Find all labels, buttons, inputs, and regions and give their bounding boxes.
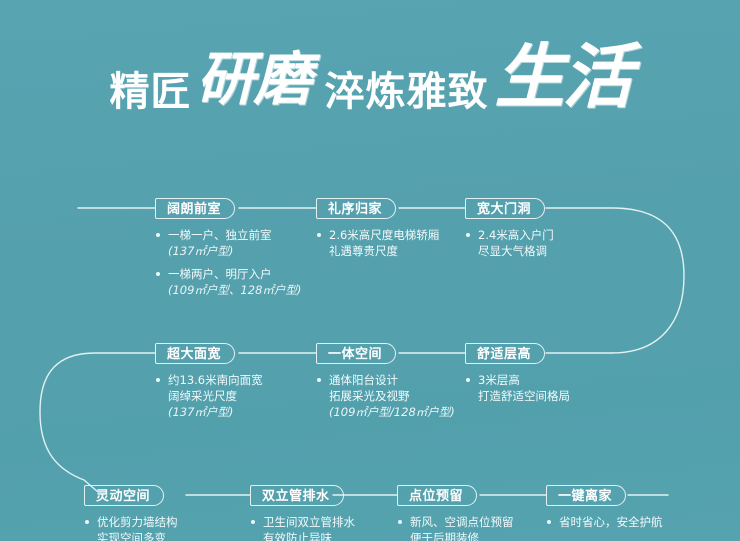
bullet-line-1: 一梯一户、独立前室 — [168, 228, 272, 242]
bullet-dot-icon — [156, 378, 160, 382]
feature-title-label: 宽大门洞 — [477, 202, 531, 217]
bullet-line-2: (137㎡户型) — [168, 243, 301, 259]
bullet-line-2: 打造舒适空间格局 — [478, 388, 570, 404]
bullet-line-1: 3米层高 — [478, 373, 520, 387]
list-item: 省时省心，安全护航 — [546, 514, 663, 530]
bullet-dot-icon — [466, 378, 470, 382]
bullet-line-2: 便于后期装修 — [410, 530, 514, 541]
feature-bullet-list: 一梯一户、独立前室 (137㎡户型) 一梯两户、明厅入户 (109㎡户型、128… — [155, 227, 301, 298]
bullet-line-2: 礼遇尊贵尺度 — [329, 243, 439, 259]
feature-title-label: 双立管排水 — [262, 489, 330, 504]
feature-kuolang-qianshi[interactable]: 阔朗前室 一梯一户、独立前室 (137㎡户型) 一梯两户、明厅入户 (109㎡户… — [155, 198, 301, 301]
feature-title-chip[interactable]: 点位预留 — [397, 485, 477, 506]
bullet-dot-icon — [251, 520, 255, 524]
list-item: 一梯一户、独立前室 (137㎡户型) — [155, 227, 301, 259]
feature-bullet-list: 优化剪力墙结构 实现空间多变 — [84, 514, 178, 541]
feature-title-chip[interactable]: 舒适层高 — [465, 343, 545, 364]
list-item: 通体阳台设计 拓展采光及视野 (109㎡户型/128㎡户型) — [316, 372, 455, 420]
feature-lingdong-kongjian[interactable]: 灵动空间 优化剪力墙结构 实现空间多变 — [84, 485, 178, 541]
title-part-2: 研磨 — [196, 50, 310, 108]
feature-dianwei-yuliu[interactable]: 点位预留 新风、空调点位预留 便于后期装修 — [397, 485, 514, 541]
feature-lixu-guijia[interactable]: 礼序归家 2.6米高尺度电梯轿厢 礼遇尊贵尺度 — [316, 198, 439, 262]
feature-bullet-list: 新风、空调点位预留 便于后期装修 — [397, 514, 514, 541]
feature-bullet-list: 卫生间双立管排水 有效防止异味 — [250, 514, 355, 541]
list-item: 新风、空调点位预留 便于后期装修 — [397, 514, 514, 541]
bullet-line-2: 拓展采光及视野 — [329, 388, 455, 404]
feature-title-label: 点位预留 — [409, 489, 463, 504]
bullet-line-1: 2.4米高入户门 — [478, 228, 554, 242]
feature-bullet-list: 省时省心，安全护航 — [546, 514, 663, 530]
bullet-line-1: 优化剪力墙结构 — [97, 515, 178, 529]
bullet-line-1: 一梯两户、明厅入户 — [168, 267, 272, 281]
list-item: 卫生间双立管排水 有效防止异味 — [250, 514, 355, 541]
bullet-line-2: 尽显大气格调 — [478, 243, 554, 259]
title-part-1: 精匠 — [109, 72, 191, 112]
feature-title-label: 灵动空间 — [96, 489, 150, 504]
list-item: 约13.6米南向面宽 阔绰采光尺度 (137㎡户型) — [155, 372, 263, 420]
bullet-line-1: 省时省心，安全护航 — [559, 515, 663, 529]
bullet-line-2: 阔绰采光尺度 — [168, 388, 263, 404]
bullet-dot-icon — [466, 233, 470, 237]
feature-bullet-list: 3米层高 打造舒适空间格局 — [465, 372, 570, 404]
bullet-dot-icon — [398, 520, 402, 524]
feature-title-chip[interactable]: 宽大门洞 — [465, 198, 545, 219]
bullet-line-2: (109㎡户型、128㎡户型) — [168, 282, 301, 298]
feature-title-label: 一键离家 — [558, 489, 612, 504]
list-item: 2.6米高尺度电梯轿厢 礼遇尊贵尺度 — [316, 227, 439, 259]
feature-bullet-list: 2.6米高尺度电梯轿厢 礼遇尊贵尺度 — [316, 227, 439, 259]
bullet-line-2: 有效防止异味 — [263, 530, 355, 541]
feature-bullet-list: 2.4米高入户门 尽显大气格调 — [465, 227, 554, 259]
bullet-line-1: 通体阳台设计 — [329, 373, 398, 387]
bullet-dot-icon — [317, 233, 321, 237]
feature-kuanda-mendong[interactable]: 宽大门洞 2.4米高入户门 尽显大气格调 — [465, 198, 554, 262]
list-item: 一梯两户、明厅入户 (109㎡户型、128㎡户型) — [155, 266, 301, 298]
bullet-dot-icon — [156, 272, 160, 276]
feature-shushi-cenggao[interactable]: 舒适层高 3米层高 打造舒适空间格局 — [465, 343, 570, 407]
list-item: 2.4米高入户门 尽显大气格调 — [465, 227, 554, 259]
bullet-line-1: 约13.6米南向面宽 — [168, 373, 263, 387]
bullet-line-1: 2.6米高尺度电梯轿厢 — [329, 228, 439, 242]
feature-shuangliguan-paishui[interactable]: 双立管排水 卫生间双立管排水 有效防止异味 — [250, 485, 355, 541]
feature-title-chip[interactable]: 双立管排水 — [250, 485, 344, 506]
feature-bullet-list: 约13.6米南向面宽 阔绰采光尺度 (137㎡户型) — [155, 372, 263, 420]
feature-title-label: 一体空间 — [328, 347, 382, 362]
feature-title-chip[interactable]: 超大面宽 — [155, 343, 235, 364]
title-part-3: 淬炼雅致 — [325, 72, 489, 112]
feature-title-chip[interactable]: 阔朗前室 — [155, 198, 235, 219]
bullet-line-1: 新风、空调点位预留 — [410, 515, 514, 529]
feature-title-label: 阔朗前室 — [167, 202, 221, 217]
feature-title-chip[interactable]: 灵动空间 — [84, 485, 164, 506]
title-part-4: 生活 — [495, 42, 631, 112]
feature-yiti-kongjian[interactable]: 一体空间 通体阳台设计 拓展采光及视野 (109㎡户型/128㎡户型) — [316, 343, 455, 423]
feature-title-label: 礼序归家 — [328, 202, 382, 217]
bullet-line-1: 卫生间双立管排水 — [263, 515, 355, 529]
feature-title-label: 超大面宽 — [167, 347, 221, 362]
list-item: 优化剪力墙结构 实现空间多变 — [84, 514, 178, 541]
feature-chaoda-miankuan[interactable]: 超大面宽 约13.6米南向面宽 阔绰采光尺度 (137㎡户型) — [155, 343, 263, 423]
feature-yijian-lijia[interactable]: 一键离家 省时省心，安全护航 — [546, 485, 663, 533]
bullet-dot-icon — [317, 378, 321, 382]
list-item: 3米层高 打造舒适空间格局 — [465, 372, 570, 404]
page-title: 精匠研磨淬炼雅致生活 — [0, 34, 740, 142]
feature-title-chip[interactable]: 一体空间 — [316, 343, 396, 364]
bullet-line-3: (137㎡户型) — [168, 404, 263, 420]
poster-canvas: 精匠研磨淬炼雅致生活 — [0, 0, 740, 541]
bullet-line-3: (109㎡户型/128㎡户型) — [329, 404, 455, 420]
feature-title-chip[interactable]: 一键离家 — [546, 485, 626, 506]
bullet-dot-icon — [547, 520, 551, 524]
bullet-dot-icon — [156, 233, 160, 237]
bullet-dot-icon — [85, 520, 89, 524]
bullet-line-2: 实现空间多变 — [97, 530, 178, 541]
feature-title-chip[interactable]: 礼序归家 — [316, 198, 396, 219]
feature-title-label: 舒适层高 — [477, 347, 531, 362]
feature-bullet-list: 通体阳台设计 拓展采光及视野 (109㎡户型/128㎡户型) — [316, 372, 455, 420]
